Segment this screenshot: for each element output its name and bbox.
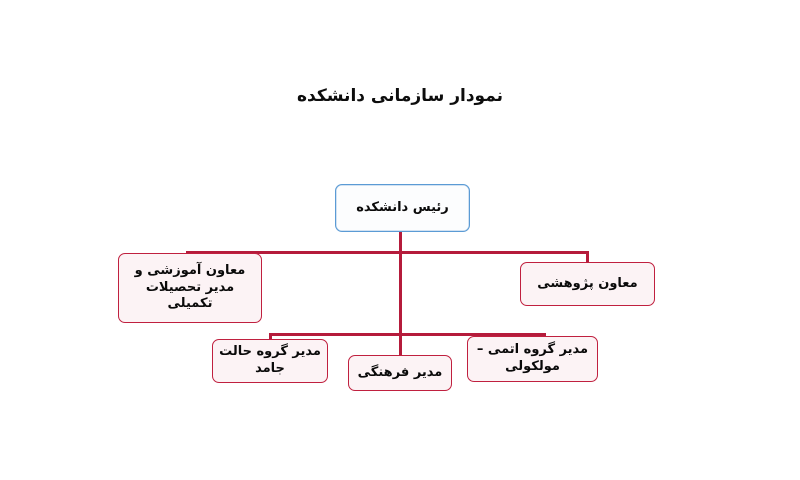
node-deputy-research[interactable]: معاون پژوهشی	[520, 262, 655, 306]
node-cultural-director-label: مدیر فرهنگی	[354, 365, 446, 382]
page-title: نمودار سازمانی دانشکده	[0, 86, 800, 106]
node-deputy-education-label: معاون آموزشی و مدیر تحصیلات تکمیلی	[124, 263, 256, 314]
node-faculty-dean[interactable]: رئیس دانشکده	[335, 184, 470, 232]
connector-root-spine	[399, 231, 402, 356]
node-group-atomic-molecular-label: مدیر گروه اتمی – مولکولی	[473, 342, 592, 376]
node-faculty-dean-label: رئیس دانشکده	[341, 200, 464, 217]
node-cultural-director[interactable]: مدیر فرهنگی	[348, 355, 452, 391]
node-deputy-education[interactable]: معاون آموزشی و مدیر تحصیلات تکمیلی	[118, 253, 262, 323]
node-deputy-research-label: معاون پژوهشی	[526, 276, 649, 293]
org-chart-canvas: نمودار سازمانی دانشکده رئیس دانشکده معاو…	[0, 0, 800, 480]
node-group-solid-state-label: مدیر گروه حالت جامد	[218, 344, 322, 378]
node-group-atomic-molecular[interactable]: مدیر گروه اتمی – مولکولی	[467, 336, 598, 382]
node-group-solid-state[interactable]: مدیر گروه حالت جامد	[212, 339, 328, 383]
